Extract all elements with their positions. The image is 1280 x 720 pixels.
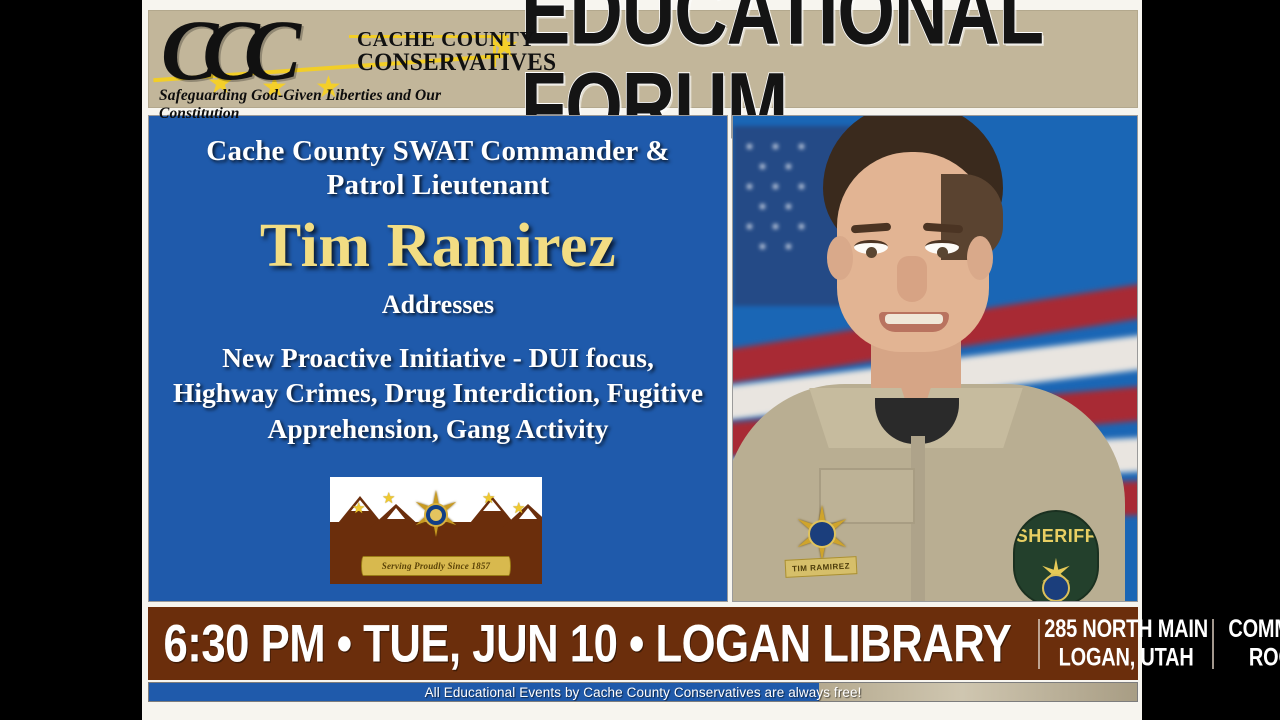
- portrait-eye-right: [925, 240, 959, 254]
- ccc-org-name-line2: CONSERVATIVES: [357, 50, 556, 76]
- event-divider-2: [1212, 619, 1214, 669]
- addresses-label: Addresses: [165, 290, 711, 320]
- speaker-role: Cache County SWAT Commander & Patrol Lie…: [165, 134, 711, 202]
- screenshot-stage: CCC CACHE COUNTY CONSERVATIVES Safeguard…: [0, 0, 1280, 720]
- speaker-info-panel: Cache County SWAT Commander & Patrol Lie…: [148, 115, 728, 602]
- shoulder-patch-center: [1042, 574, 1070, 602]
- speaker-photo: ✶ TIM RAMIREZ SHERIFF ✶: [732, 115, 1138, 602]
- speaker-info-content: Cache County SWAT Commander & Patrol Lie…: [149, 116, 727, 447]
- seal-star-4-icon: ★: [512, 501, 525, 516]
- event-details-bar: 6:30 PM • TUE, JUN 10 • LOGAN LIBRARY 28…: [148, 607, 1138, 680]
- seal-star-2-icon: ★: [382, 491, 395, 506]
- seal-sheriff-star-icon: ✶: [405, 485, 467, 547]
- event-time-date-venue: 6:30 PM • TUE, JUN 10 • LOGAN LIBRARY: [148, 613, 1011, 674]
- chest-badge-center: [808, 520, 836, 548]
- forum-title: EDUCATIONAL FORUM: [521, 11, 1137, 107]
- event-room-line2: ROOM A: [1218, 644, 1280, 673]
- portrait-mouth: [879, 312, 949, 332]
- seal-star-1-icon: ★: [352, 501, 365, 516]
- portrait-ear-right: [967, 236, 993, 280]
- seal-star-3-icon: ★: [482, 491, 495, 506]
- topics-text: New Proactive Initiative - DUI focus, Hi…: [165, 340, 711, 447]
- ccc-logo: CCC CACHE COUNTY CONSERVATIVES Safeguard…: [149, 11, 521, 107]
- ccc-org-name: CACHE COUNTY CONSERVATIVES: [357, 29, 569, 76]
- ccc-tagline: Safeguarding God-Given Liberties and Our…: [159, 87, 521, 123]
- uniform-nameplate: TIM RAMIREZ: [785, 556, 858, 578]
- footer-note-strip: All Educational Events by Cache County C…: [148, 682, 1138, 702]
- event-address-line1: 285 NORTH MAIN: [1044, 615, 1208, 644]
- flyer-header: CCC CACHE COUNTY CONSERVATIVES Safeguard…: [148, 10, 1138, 108]
- portrait-nose: [897, 256, 927, 302]
- seal-badge-center: [424, 503, 448, 527]
- event-address: 285 NORTH MAIN LOGAN, UTAH: [1044, 615, 1208, 673]
- footer-note-text: All Educational Events by Cache County C…: [149, 683, 1137, 701]
- event-room: COMMUNITY ROOM A: [1218, 615, 1280, 673]
- sheriff-office-seal: ★ ★ ★ ★ ✶ Serving Proudly Since 1857: [326, 473, 546, 588]
- event-address-line2: LOGAN, UTAH: [1044, 644, 1208, 673]
- ccc-monogram: CCC: [161, 7, 285, 93]
- portrait-eye-left: [854, 240, 888, 254]
- speaker-name: Tim Ramirez: [165, 214, 711, 279]
- shoulder-patch-text: SHERIFF: [1015, 526, 1097, 547]
- speaker-portrait-figure: ✶ TIM RAMIREZ SHERIFF ✶: [745, 116, 1075, 602]
- portrait-ear-left: [827, 236, 853, 280]
- event-flyer: CCC CACHE COUNTY CONSERVATIVES Safeguard…: [142, 0, 1142, 720]
- event-room-line1: COMMUNITY: [1218, 615, 1280, 644]
- ccc-org-name-line1: CACHE COUNTY: [357, 29, 569, 50]
- event-divider-1: [1038, 619, 1040, 669]
- seal-ribbon: Serving Proudly Since 1857: [361, 556, 511, 576]
- sheriff-shoulder-patch: SHERIFF ✶: [1013, 510, 1099, 602]
